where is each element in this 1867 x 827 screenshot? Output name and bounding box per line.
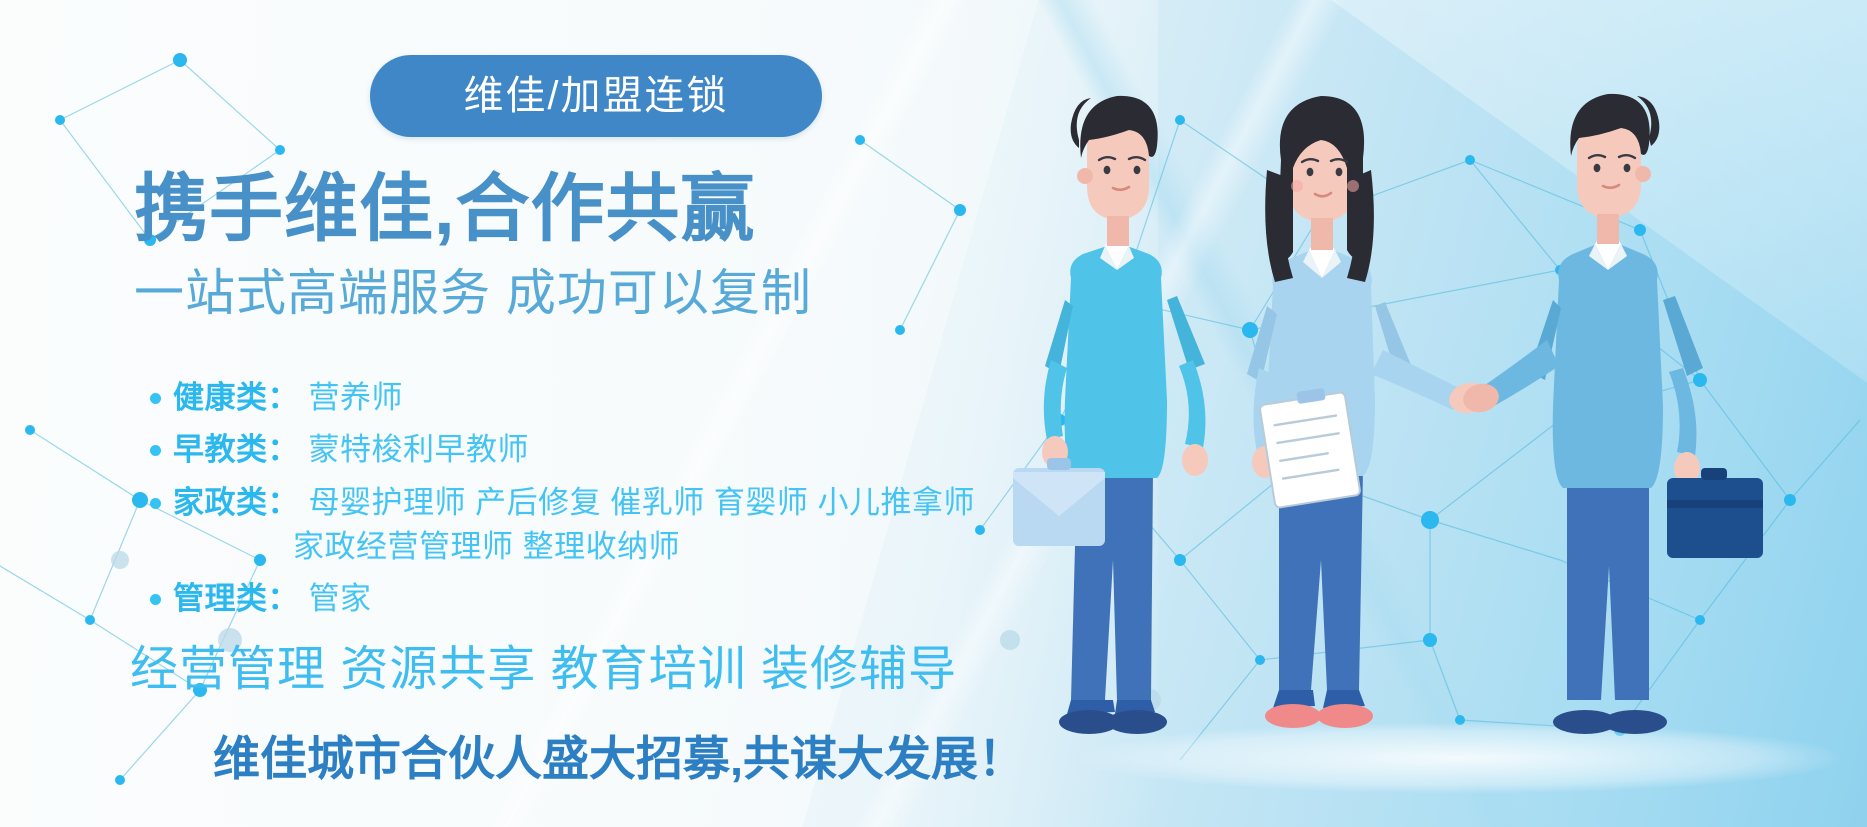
services-line: 经营管理 资源共享 教育培训 装修辅导: [130, 646, 957, 694]
call-to-action: 维佳城市合伙人盛大招募,共谋大发展！: [213, 735, 1025, 782]
list-item: 家政类 ： 母婴护理师 产后修复 催乳师 育婴师 小儿推拿师 家政经营管理师 整…: [150, 483, 1050, 568]
briefcase-dark: [1667, 468, 1763, 558]
banner-content: 维佳/加盟连锁 携手维佳,合作共赢 一站式高端服务 成功可以复制 健康类 ： 营…: [0, 0, 1120, 827]
badge-label: 维佳/加盟连锁: [463, 76, 728, 116]
promo-banner: 维佳/加盟连锁 携手维佳,合作共赢 一站式高端服务 成功可以复制 健康类 ： 营…: [0, 0, 1867, 827]
category-colon: ：: [268, 378, 299, 418]
figure-man-right: [1475, 94, 1763, 734]
bullet-dot-icon: [150, 393, 161, 404]
category-label: 早教类: [173, 430, 268, 470]
category-label: 健康类: [173, 378, 268, 418]
page-subtitle: 一站式高端服务 成功可以复制: [134, 268, 812, 318]
cta-exclamation: ！: [978, 732, 1025, 785]
bullet-dot-icon: [150, 445, 161, 456]
category-list: 健康类 ： 营养师 早教类 ： 蒙特梭利早教师: [150, 378, 1050, 631]
category-value-line2: 家政经营管理师 整理收纳师: [293, 527, 975, 567]
cta-text: 维佳城市合伙人盛大招募,共谋大发展: [213, 732, 978, 785]
bullet-dot-icon: [150, 594, 161, 605]
category-colon: ：: [268, 430, 299, 470]
page-title: 携手维佳,合作共赢: [134, 172, 756, 246]
list-item: 管理类 ： 管家: [150, 579, 1050, 619]
category-label: 家政类: [173, 483, 268, 523]
list-item: 健康类 ： 营养师: [150, 378, 1050, 418]
category-value: 母婴护理师 产后修复 催乳师 育婴师 小儿推拿师: [309, 483, 975, 523]
category-value: 营养师: [309, 378, 404, 418]
category-value: 蒙特梭利早教师: [309, 430, 530, 470]
figure-woman-center: [1247, 96, 1463, 728]
category-colon: ：: [268, 579, 299, 619]
category-value: 管家: [309, 579, 372, 619]
list-item: 早教类 ： 蒙特梭利早教师: [150, 430, 1050, 470]
clipboard: [1259, 388, 1360, 508]
badge-pill[interactable]: 维佳/加盟连锁: [370, 55, 822, 137]
category-colon: ：: [268, 483, 299, 523]
category-label: 管理类: [173, 579, 268, 619]
bullet-dot-icon: [150, 498, 161, 509]
